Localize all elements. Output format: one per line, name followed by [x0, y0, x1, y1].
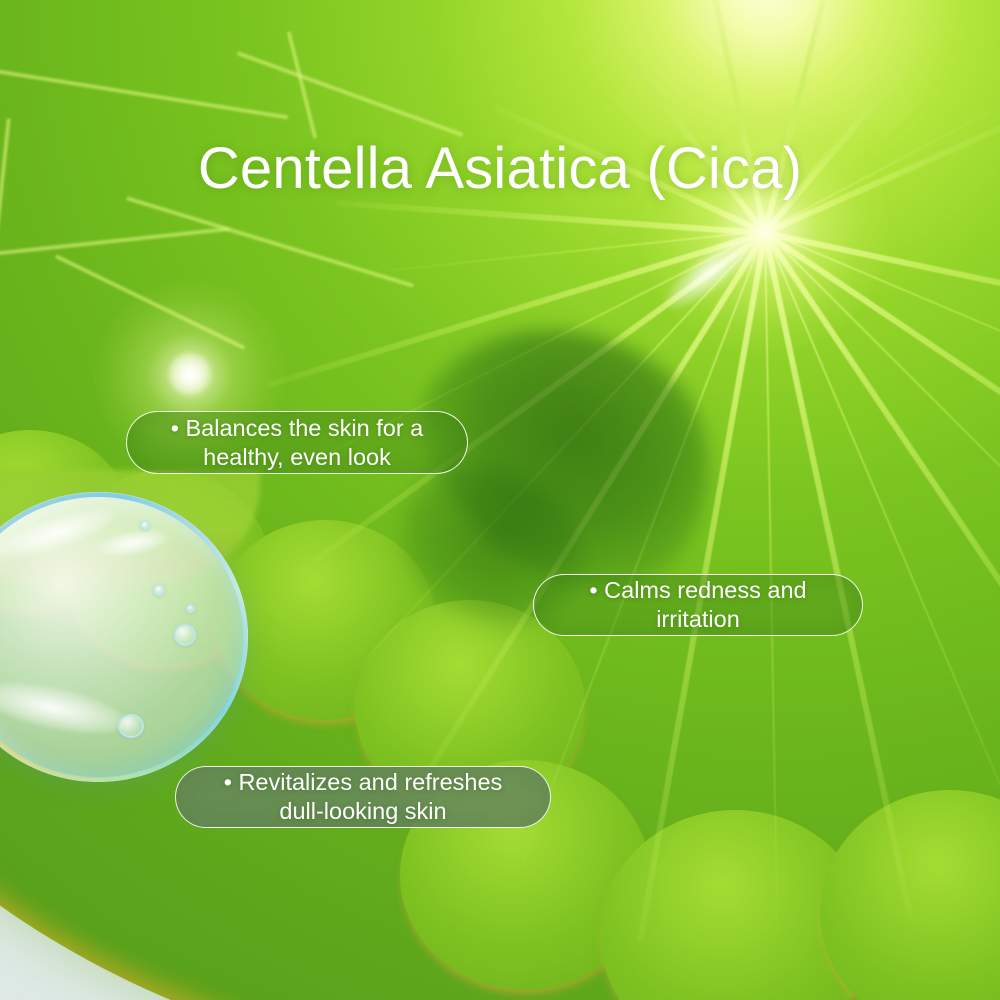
benefit-pill-balances[interactable]: • Balances the skin for a healthy, even …: [126, 411, 468, 474]
page-title: Centella Asiatica (Cica): [0, 138, 1000, 201]
benefit-line-2: dull-looking skin: [224, 797, 503, 826]
benefit-pill-calms[interactable]: • Calms redness and irritation: [533, 574, 863, 636]
benefit-line-1: • Revitalizes and refreshes: [224, 768, 503, 797]
benefit-line-2: irritation: [589, 605, 806, 634]
benefit-line-2: healthy, even look: [171, 443, 424, 472]
sun-flare-core: [168, 352, 212, 396]
benefit-line-1: • Balances the skin for a: [171, 414, 424, 443]
benefit-pill-revitalizes[interactable]: • Revitalizes and refreshes dull-looking…: [175, 766, 551, 828]
benefit-line-1: • Calms redness and: [589, 576, 806, 605]
product-ingredient-graphic: Centella Asiatica (Cica) • Balances the …: [0, 0, 1000, 1000]
